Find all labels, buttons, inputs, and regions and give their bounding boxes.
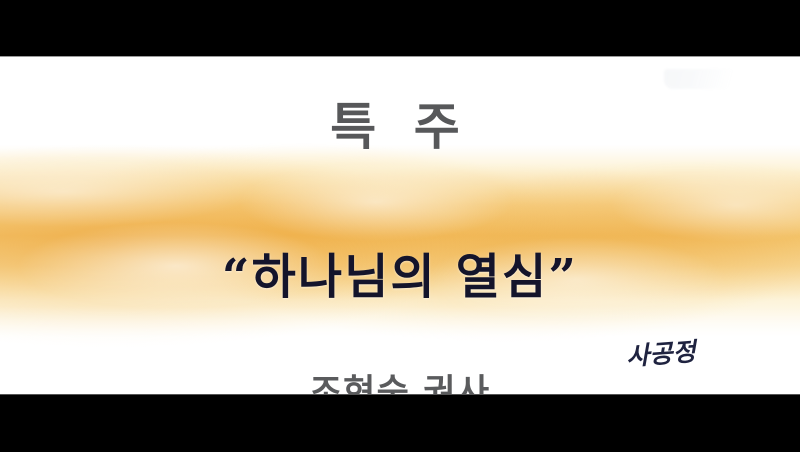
performer-name: 조현숙 권사 — [0, 364, 800, 394]
slide-canvas: 특 주 “하나님의 열심” 사공정 조현숙 권사 — [0, 57, 800, 394]
section-heading: 특 주 — [0, 87, 800, 159]
slide-text-block: 특 주 “하나님의 열심” 사공정 조현숙 권사 — [0, 57, 800, 394]
letterbox-bar-bottom — [0, 394, 800, 452]
letterbox-bar-top — [0, 0, 800, 57]
letterbox-edge-bottom — [0, 394, 800, 395]
song-title: “하나님의 열심” — [0, 237, 800, 307]
letterbox-edge-top — [0, 56, 800, 57]
video-frame: 특 주 “하나님의 열심” 사공정 조현숙 권사 — [0, 0, 800, 452]
